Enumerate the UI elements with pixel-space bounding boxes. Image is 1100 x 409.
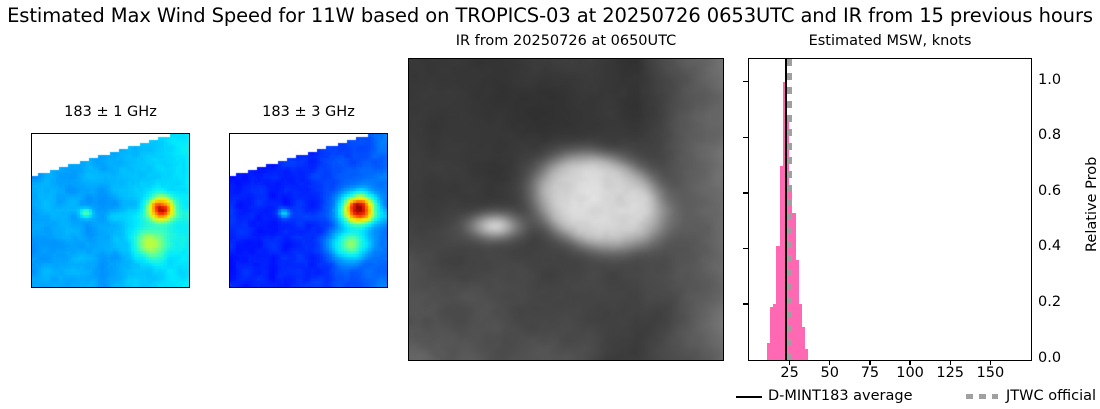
ir-satellite-image: [409, 59, 724, 361]
ir-panel: [408, 58, 724, 361]
microwave-panel-1-title: 183 ± 1 GHz: [31, 104, 190, 120]
legend-label-jtwc: JTWC official: [1006, 388, 1096, 404]
microwave-image-183pm1: [32, 134, 190, 288]
y-tick: [743, 81, 748, 82]
y-tick-label: 0.8: [1038, 127, 1078, 143]
annotation-line-jtwc-official: [787, 59, 792, 360]
x-tick-label: 150: [965, 365, 1015, 381]
y-tick: [743, 137, 748, 138]
y-tick: [743, 248, 748, 249]
histogram-bar: [805, 349, 808, 360]
y-tick: [743, 192, 748, 193]
y-tick-label: 1.0: [1038, 72, 1078, 88]
microwave-panel-2-title: 183 ± 3 GHz: [229, 104, 388, 120]
y-tick-label: 0.6: [1038, 183, 1078, 199]
y-tick: [743, 303, 748, 304]
y-tick-label: 0.4: [1038, 238, 1078, 254]
legend-label-dmint183: D-MINT183 average: [768, 388, 913, 404]
legend-swatch-jtwc: [966, 394, 998, 399]
microwave-panel-2-183pm3: [229, 133, 388, 288]
y-axis-title: Relative Prob: [1084, 156, 1100, 251]
msw-histogram-plot: [748, 58, 1032, 361]
ir-panel-title: IR from 20250726 at 0650UTC: [408, 33, 724, 49]
legend-swatch-dmint183: [736, 396, 762, 398]
y-tick-label: 0.2: [1038, 294, 1078, 310]
figure-suptitle: Estimated Max Wind Speed for 11W based o…: [0, 4, 1100, 27]
y-tick-label: 0.0: [1038, 350, 1078, 366]
histogram-title: Estimated MSW, knots: [748, 33, 1032, 49]
microwave-panel-1-183pm1: [31, 133, 190, 288]
microwave-image-183pm3: [230, 134, 388, 288]
